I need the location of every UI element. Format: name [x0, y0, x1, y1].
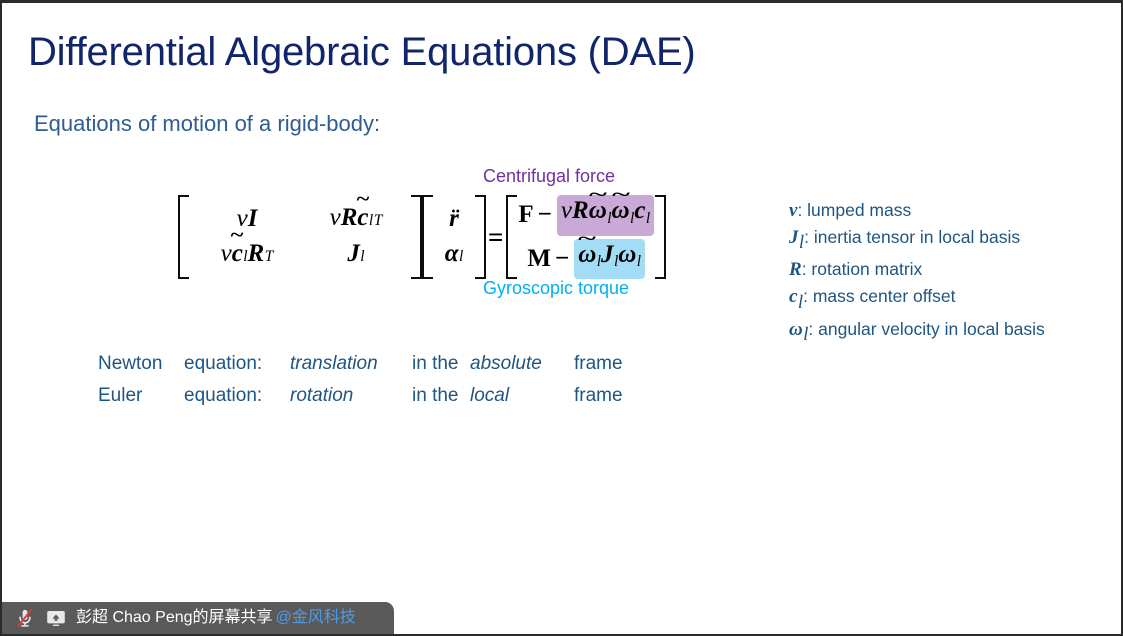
- bracket-left-rhs: [506, 195, 517, 279]
- equals-sign: =: [488, 222, 503, 253]
- subscript-l: l: [646, 210, 650, 227]
- screen-share-icon[interactable]: [45, 607, 67, 629]
- subtitle: Equations of motion of a rigid-body:: [34, 109, 380, 139]
- cell-nu-R-ctilde-T: νRclT: [303, 203, 409, 236]
- symbol-legend: ν: lumped mass Jl: inertia tensor in loc…: [789, 197, 1045, 348]
- glyph-J: J: [347, 239, 360, 269]
- newton-motion: translation: [290, 348, 412, 380]
- presentation-slide: Differential Algebraic Equations (DAE) E…: [0, 0, 1123, 636]
- cell-nu-I: νI: [191, 204, 303, 234]
- euler-equation-word: equation:: [184, 380, 290, 412]
- superscript-T: T: [374, 206, 383, 236]
- glyph-minus: −: [555, 244, 569, 274]
- newton-in-the: in the: [412, 348, 470, 380]
- share-bar-suffix: @金风科技: [276, 608, 356, 628]
- screen-share-status-bar[interactable]: 彭超 Chao Peng的屏幕共享 @金风科技: [2, 602, 394, 634]
- matrix-equation: νI νRclT νclRT Jl: [178, 195, 666, 279]
- legend-text-c: : mass center offset: [803, 286, 955, 306]
- cell-J-l: Jl: [303, 239, 409, 272]
- legend-item-omega: ωl: angular velocity in local basis: [789, 316, 1045, 348]
- glyph-nu: ν: [330, 203, 341, 233]
- newton-equation-word: equation:: [184, 348, 290, 380]
- gyroscopic-term-highlight: ωlJlωl: [574, 239, 645, 279]
- unknown-vector-row-1: r̈: [437, 203, 471, 236]
- subscript-l: l: [369, 206, 373, 236]
- equation-block: Centrifugal force νI νRclT νclRT: [178, 165, 648, 310]
- newton-frame-kind: absolute: [470, 348, 574, 380]
- glyph-r-ddot: r̈: [449, 204, 459, 234]
- bracket-right-coefficient: [411, 195, 422, 279]
- glyph-J: J: [601, 241, 614, 268]
- glyph-nu: ν: [561, 197, 572, 224]
- cell-r-ddot: r̈: [437, 204, 471, 234]
- legend-symbol-omega: ω: [789, 319, 803, 340]
- glyph-c-tilde: c: [232, 239, 243, 269]
- glyph-alpha: α: [445, 239, 459, 269]
- bracket-left-coefficient: [178, 195, 189, 279]
- legend-item-c: cl: mass center offset: [789, 283, 1045, 315]
- euler-in-the: in the: [412, 380, 470, 412]
- glyph-R: R: [341, 203, 358, 233]
- glyph-c-tilde: c: [357, 203, 368, 233]
- description-row-newton: Newton equation: translation in the abso…: [98, 348, 623, 380]
- legend-symbol-R: R: [789, 259, 802, 280]
- superscript-T: T: [265, 242, 274, 272]
- legend-text-R: : rotation matrix: [802, 259, 923, 279]
- legend-symbol-c: c: [789, 286, 797, 307]
- subscript-l: l: [459, 242, 463, 272]
- cell-alpha-l: αl: [437, 239, 471, 272]
- glyph-R: R: [572, 197, 589, 224]
- legend-symbol-J: J: [789, 227, 799, 248]
- euler-motion: rotation: [290, 380, 412, 412]
- newton-frame-word: frame: [574, 348, 623, 380]
- page-title: Differential Algebraic Equations (DAE): [28, 27, 696, 77]
- euler-name: Euler: [98, 380, 184, 412]
- coefficient-matrix-row-2: νclRT Jl: [191, 239, 409, 272]
- rhs-rows: F− νRωlωlcl M− ωlJlωl: [517, 192, 655, 282]
- bracket-right-unknown: [475, 195, 486, 279]
- newton-name: Newton: [98, 348, 184, 380]
- unknown-vector-row-2: αl: [437, 239, 471, 272]
- glyph-I: I: [248, 204, 258, 234]
- share-bar-text: 彭超 Chao Peng的屏幕共享: [76, 608, 273, 628]
- glyph-M: M: [527, 244, 551, 274]
- bracket-left-unknown: [422, 195, 433, 279]
- glyph-omega-tilde: ω: [612, 196, 630, 226]
- legend-text-omega: : angular velocity in local basis: [808, 319, 1044, 339]
- cell-nu-ctilde-R-T: νclRT: [191, 239, 303, 272]
- rhs-row-2-lead: M−: [527, 244, 574, 274]
- rhs-row-1-lead: F−: [518, 200, 557, 230]
- glyph-c: c: [634, 197, 645, 224]
- euler-frame-word: frame: [574, 380, 623, 412]
- subscript-l: l: [360, 242, 364, 272]
- legend-text-J: : inertia tensor in local basis: [804, 227, 1020, 247]
- legend-item-R: R: rotation matrix: [789, 256, 1045, 283]
- glyph-omega-tilde: ω: [578, 240, 596, 270]
- glyph-R: R: [248, 239, 265, 269]
- rhs-matrix: F− νRωlωlcl M− ωlJlωl: [517, 192, 655, 282]
- rhs-row-2: M− ωlJlωl: [518, 239, 654, 279]
- glyph-omega-tilde: ω: [589, 196, 607, 226]
- coefficient-matrix-row-1: νI νRclT: [191, 203, 409, 236]
- euler-frame-kind: local: [470, 380, 574, 412]
- legend-text-nu: : lumped mass: [797, 200, 911, 220]
- coefficient-matrix: νI νRclT νclRT Jl: [189, 200, 411, 275]
- glyph-omega: ω: [618, 241, 636, 268]
- glyph-F: F: [518, 200, 533, 230]
- subscript-l: l: [637, 253, 641, 270]
- equation-descriptions: Newton equation: translation in the abso…: [98, 348, 623, 412]
- legend-item-nu: ν: lumped mass: [789, 197, 1045, 224]
- gyroscopic-torque-label: Gyroscopic torque: [483, 277, 629, 299]
- microphone-muted-icon[interactable]: [14, 607, 36, 629]
- bracket-right-rhs: [655, 195, 666, 279]
- unknown-vector: r̈ αl: [433, 200, 475, 275]
- description-row-euler: Euler equation: rotation in the local fr…: [98, 380, 623, 412]
- legend-item-J: Jl: inertia tensor in local basis: [789, 224, 1045, 256]
- glyph-minus: −: [538, 200, 552, 230]
- centrifugal-term-highlight: νRωlωlcl: [557, 195, 654, 235]
